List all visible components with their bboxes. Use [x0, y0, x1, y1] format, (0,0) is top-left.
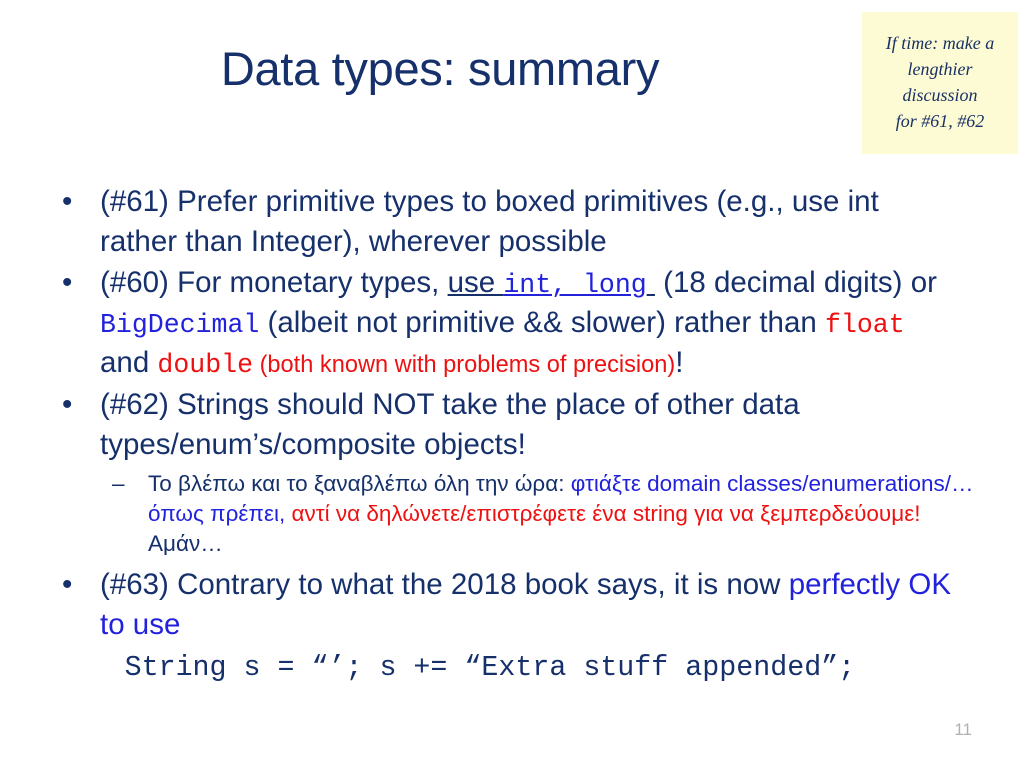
bullet-60-underline-tail	[647, 266, 655, 299]
bullet-marker-icon: •	[62, 263, 72, 303]
bullet-60-precision-note: (both known with problems of precision)	[253, 352, 675, 378]
bullet-60-code-float: float	[825, 310, 905, 340]
page-number: 11	[954, 720, 972, 740]
sticky-note-line: If time: make a	[870, 30, 1010, 56]
bullet-61-line2: rather than Integer), wherever possible	[100, 222, 978, 262]
bullet-item-60: • (#60) For monetary types, use int, lon…	[0, 263, 1024, 383]
sticky-note: If time: make a lengthier discussion for…	[862, 12, 1018, 154]
bullet-60-part6: (albeit not primitive && slower) rather …	[259, 306, 825, 339]
sticky-note-line: for #61, #62	[870, 108, 1010, 134]
sub-bullet-62-part4: Αμάν…	[148, 531, 223, 556]
sticky-note-line: discussion	[870, 82, 1010, 108]
bullet-62-line1: (#62) Strings should NOT take the place …	[100, 385, 978, 425]
bullet-item-61: • (#61) Prefer primitive types to boxed …	[0, 182, 1024, 262]
bullet-marker-icon: •	[62, 182, 72, 222]
slide-body: • (#61) Prefer primitive types to boxed …	[0, 182, 1024, 687]
sub-bullet-dash-icon: –	[112, 469, 125, 499]
bullet-61-line1: (#61) Prefer primitive types to boxed pr…	[100, 182, 978, 222]
bullet-60-use-underline: use	[448, 266, 504, 299]
bullet-60-code-double: double	[157, 350, 253, 380]
sub-bullet-62-part1: Το βλέπω και το ξαναβλέπω όλη την ώρα:	[148, 471, 571, 496]
sticky-note-line: lengthier	[870, 56, 1010, 82]
bullet-63-part1: (#63) Contrary to what the 2018 book say…	[100, 568, 789, 601]
bullet-63-code-line: String s = “’; s += “Extra stuff appende…	[0, 646, 1024, 688]
bullet-marker-icon: •	[62, 385, 72, 425]
bullet-item-63: • (#63) Contrary to what the 2018 book s…	[0, 565, 1024, 645]
bullet-60-code-int-long: int, long	[503, 270, 646, 300]
bullet-60-part8: and	[100, 346, 157, 379]
page-title: Data types: summary	[60, 44, 820, 93]
bullet-60-part1: (#60) For monetary types,	[100, 266, 448, 299]
bullet-item-62: • (#62) Strings should NOT take the plac…	[0, 385, 1024, 465]
sub-bullet-item-62: – Το βλέπω και το ξαναβλέπω όλη την ώρα:…	[0, 469, 1024, 559]
bullet-60-part11: !	[675, 346, 683, 379]
bullet-60-part4: (18 decimal digits) or	[655, 266, 937, 299]
sub-bullet-62-part3: αντί να δηλώνετε/επιστρέφετε ένα string …	[291, 501, 920, 526]
bullet-60-code-bigdecimal: BigDecimal	[100, 310, 259, 340]
bullet-60-line2: BigDecimal (albeit not primitive && slow…	[100, 303, 978, 343]
bullet-62-line2: types/enum’s/composite objects!	[100, 425, 978, 465]
bullet-63-code-string: String s = “’; s += “Extra stuff appende…	[125, 651, 856, 684]
bullet-marker-icon: •	[62, 565, 72, 605]
bullet-63-line1: (#63) Contrary to what the 2018 book say…	[100, 565, 978, 645]
bullet-60-line1: (#60) For monetary types, use int, long …	[100, 263, 978, 303]
bullet-60-line3: and double (both known with problems of …	[100, 343, 978, 383]
